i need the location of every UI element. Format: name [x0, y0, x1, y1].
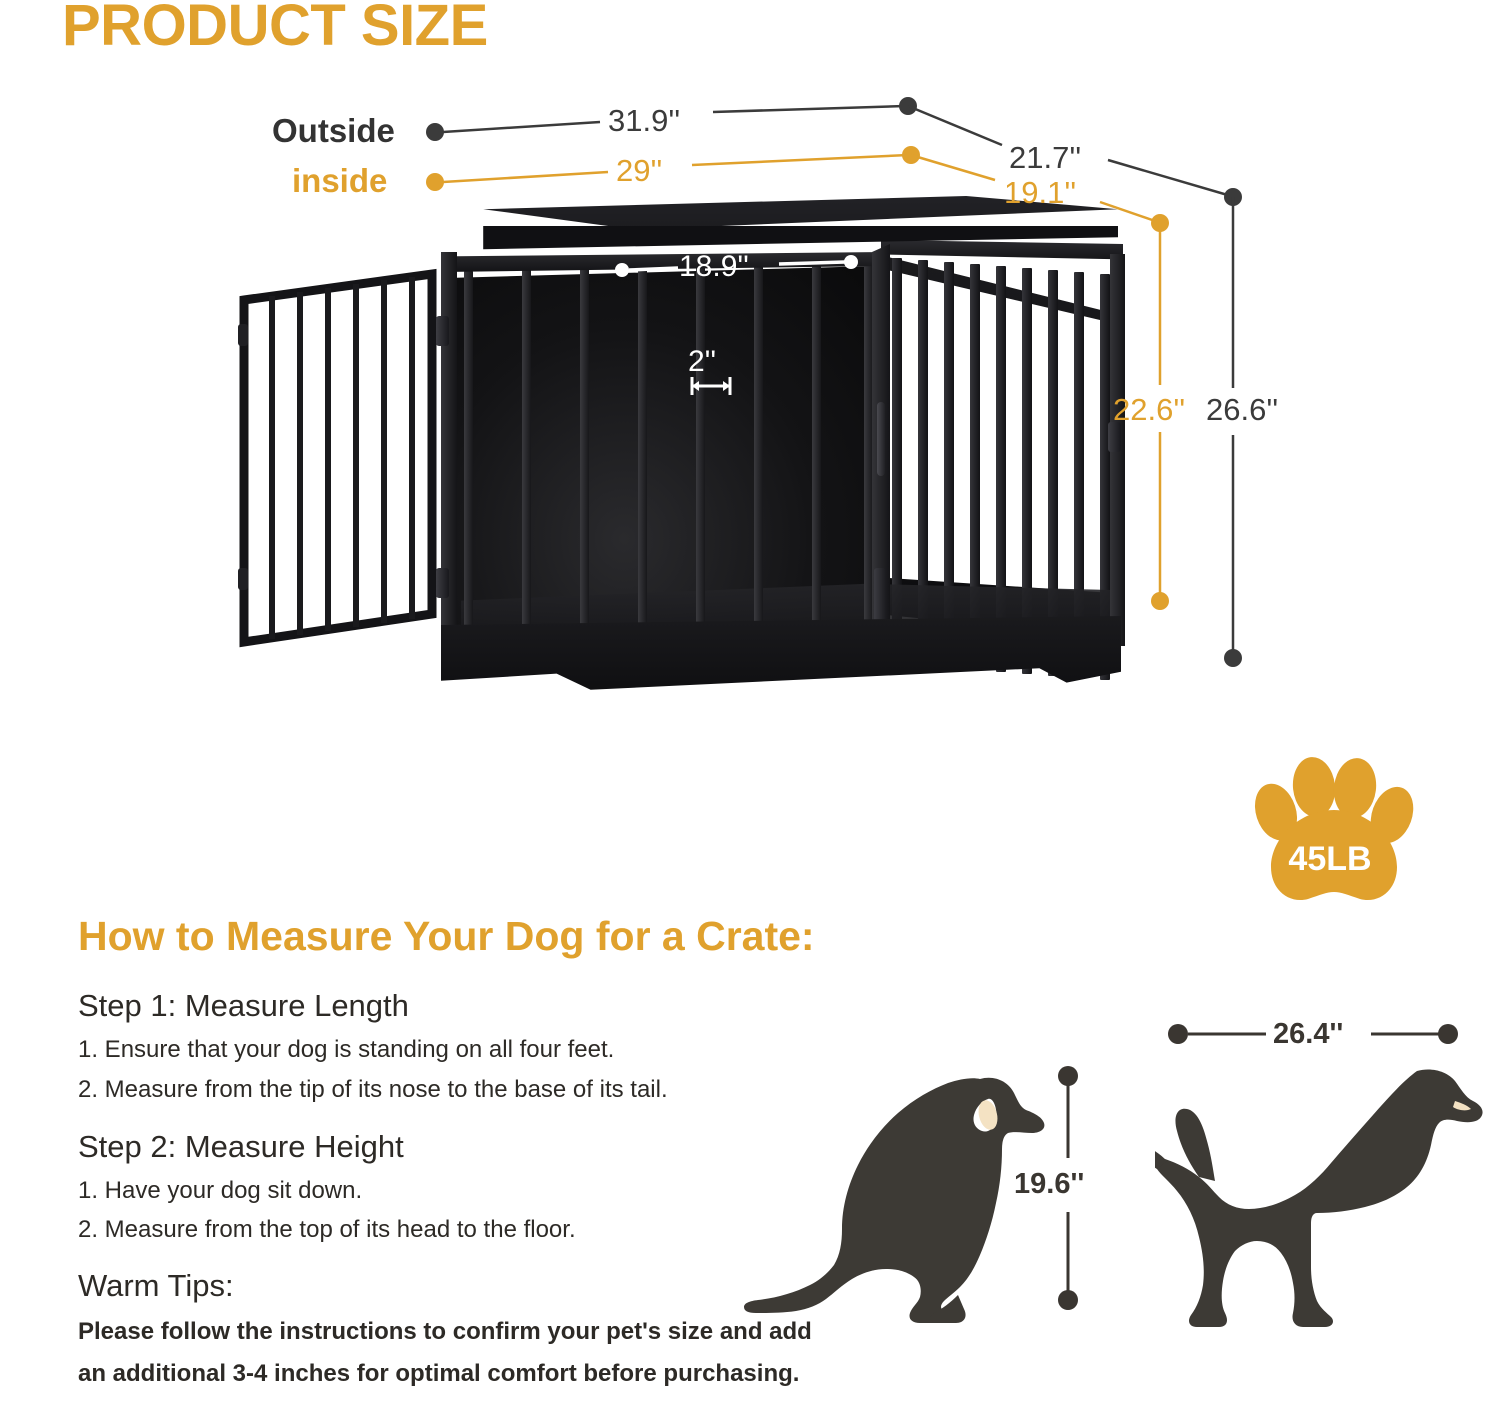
crate-hinge-top: [436, 316, 449, 346]
warm-tips-line-1: Please follow the instructions to confir…: [78, 1318, 812, 1346]
dog-length-label: 26.4'': [1273, 1018, 1343, 1051]
legend-inside-label: inside: [292, 162, 387, 200]
inside-width-start-dot: [426, 173, 444, 191]
crate-bars-left-panel: [458, 268, 874, 653]
step1-line-1: 1. Ensure that your dog is standing on a…: [78, 1036, 614, 1064]
dog-length-left-dot: [1168, 1024, 1188, 1044]
step2-line-1: 1. Have your dog sit down.: [78, 1177, 362, 1205]
weight-capacity-value: 45LB: [1240, 840, 1420, 879]
step1-line-2: 2. Measure from the tip of its nose to t…: [78, 1076, 668, 1104]
dim-inside-width: 29'': [616, 153, 662, 189]
crate-door-latch[interactable]: [874, 568, 886, 626]
step2-heading: Step 2: Measure Height: [78, 1129, 404, 1165]
inside-height-end-dot: [1151, 592, 1169, 610]
dog-length-right-dot: [1438, 1024, 1458, 1044]
warm-tips-line-2: an additional 3-4 inches for optimal com…: [78, 1360, 799, 1388]
outside-width-start-dot: [426, 123, 444, 141]
crate-base-plinth: [441, 616, 1121, 706]
dim-door-width: 18.9'': [679, 250, 749, 284]
dog-height-label: 19.6'': [1014, 1168, 1084, 1201]
open-wire-door: [236, 268, 458, 648]
standing-dog-silhouette: [1155, 1055, 1485, 1345]
dim-outside-depth: 21.7'': [1009, 140, 1081, 176]
outside-depth-end-dot: [1224, 188, 1242, 206]
outside-height-end-dot: [1224, 649, 1242, 667]
inside-depth-end-dot: [1151, 214, 1169, 232]
inside-width-end-dot: [902, 146, 920, 164]
page-title: PRODUCT SIZE: [62, 0, 488, 57]
guide-heading: How to Measure Your Dog for a Crate:: [78, 913, 815, 960]
dim-inside-depth: 19.1'': [1004, 175, 1076, 211]
infographic-page: PRODUCT SIZE: [0, 0, 1500, 1428]
dim-outside-width: 31.9'': [608, 103, 680, 139]
dim-inside-height: 22.6'': [1113, 392, 1185, 428]
weight-capacity-badge: 45LB: [1240, 752, 1420, 912]
step1-heading: Step 1: Measure Length: [78, 988, 409, 1024]
step2-line-2: 2. Measure from the top of its head to t…: [78, 1216, 576, 1244]
dim-bar-spacing: 2'': [688, 345, 716, 379]
dim-outside-height: 26.6'': [1206, 392, 1278, 428]
outside-width-end-dot: [899, 97, 917, 115]
legend-outside-label: Outside: [272, 112, 395, 150]
warm-tips-heading: Warm Tips:: [78, 1268, 234, 1304]
crate-door-handle[interactable]: [877, 402, 885, 476]
crate-hinge-bottom: [436, 568, 449, 598]
paw-print-icon: [1240, 752, 1420, 912]
